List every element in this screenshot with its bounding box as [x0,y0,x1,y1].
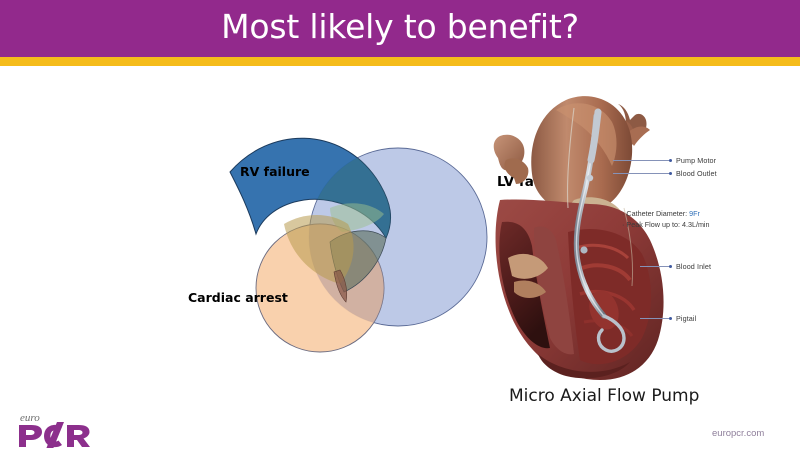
spec-row-catheter-diameter: · Catheter Diameter: 9Fr [622,208,710,219]
leader-line-blood-inlet [640,266,671,267]
device-spec-list: · Catheter Diameter: 9Fr · Peak Flow up … [622,208,710,230]
page-title: Most likely to benefit? [0,4,800,50]
heart-illustration [478,82,688,387]
spec-bullet-0: · [622,209,624,218]
atrium-appendage [504,158,528,184]
callout-label-pigtail: Pigtail [676,314,696,323]
callout-label-blood-inlet: Blood Inlet [676,262,711,271]
blood-inlet-marker [580,246,587,253]
callout-label-blood-outlet: Blood Outlet [676,169,717,178]
device-caption: Micro Axial Flow Pump [509,386,699,406]
venn-diagram [180,120,510,370]
leader-line-pump-motor [613,160,671,161]
callout-label-pump-motor: Pump Motor [676,156,716,165]
venn-label-rv-failure: RV failure [240,164,310,179]
leader-dot-pigtail [669,317,672,320]
venn-label-cardiac-arrest: Cardiac arrest [188,290,288,305]
leader-line-blood-outlet [613,173,671,174]
spec-label-catheter-diameter: Catheter Diameter: [626,209,687,218]
accent-stripe [0,57,800,66]
spec-value-peak-flow: 4.3L/min [682,220,710,229]
spec-label-peak-flow: Peak Flow up to: [626,220,680,229]
logo-text-pcr [19,422,90,448]
leader-line-pigtail [640,318,671,319]
slide-canvas: Most likely to benefit? [0,0,800,450]
logo-text-euro: euro [20,412,40,424]
leader-dot-blood-outlet [669,172,672,175]
spec-row-peak-flow: · Peak Flow up to: 4.3L/min [622,219,710,230]
spec-bullet-1: · [622,220,624,229]
spec-value-catheter-diameter: 9Fr [689,209,700,218]
europcr-logo[interactable]: euro [18,408,98,448]
leader-dot-pump-motor [669,159,672,162]
blood-outlet-marker [587,175,593,181]
footer-url[interactable]: europcr.com [712,428,764,439]
leader-dot-blood-inlet [669,265,672,268]
